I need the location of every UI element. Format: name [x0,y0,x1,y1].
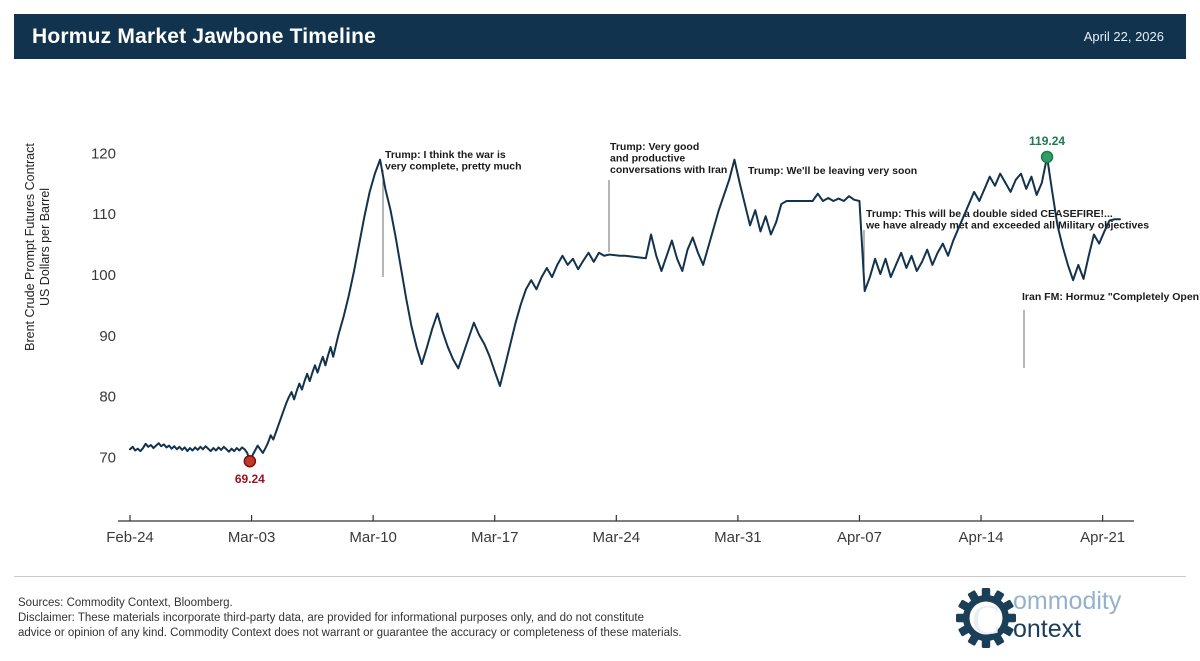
x-tick-label: Apr-21 [1080,529,1125,546]
commodity-context-logo: C ommodity ontext [955,583,1185,649]
y-tick-label: 100 [91,267,116,284]
annotation-war-complete-text: Trump: I think the war is [385,149,506,161]
y-tick-label: 70 [99,450,116,467]
x-tick-label: Mar-17 [471,529,519,546]
logo-line-2: ontext [1013,615,1121,643]
low-point-marker [244,456,255,467]
brent-price-line-chart: 708090100110120Feb-24Mar-03Mar-10Mar-17M… [0,62,1200,572]
x-tick-label: Apr-07 [837,529,882,546]
x-tick-label: Mar-24 [593,529,641,546]
chart-area: Brent Crude Prompt Futures Contract US D… [0,62,1200,572]
gear-icon: C [955,587,1017,649]
annotation-productive-conversations-text: conversations with Iran [610,164,727,176]
x-tick-label: Mar-03 [228,529,276,546]
footer-disclaimer-line2: advice or opinion of any kind. Commodity… [18,626,778,641]
annotation-double-sided-ceasefire-text: Trump: This will be a double sided CEASE… [866,208,1113,220]
footer-text: Sources: Commodity Context, Bloomberg. D… [18,596,778,641]
annotation-hormuz-completely-open-text: Iran FM: Hormuz "Completely Open" [1022,291,1200,303]
y-tick-label: 120 [91,145,116,162]
y-tick-label: 90 [99,328,116,345]
x-tick-label: Apr-14 [959,529,1004,546]
footer-disclaimer-line1: Disclaimer: These materials incorporate … [18,611,778,626]
svg-text:C: C [972,598,1000,644]
footer-divider [14,576,1186,577]
logo-wordmark: ommodity ontext [1013,587,1121,643]
logo-line-1: ommodity [1013,587,1121,615]
y-tick-label: 80 [99,389,116,406]
x-tick-label: Mar-10 [349,529,397,546]
x-tick-label: Feb-24 [106,529,154,546]
low-point-label: 69.24 [235,472,265,486]
footer-sources: Sources: Commodity Context, Bloomberg. [18,596,778,611]
high-point-label: 119.24 [1029,134,1065,148]
high-point-marker [1042,151,1053,162]
annotation-productive-conversations-text: Trump: Very good [610,141,699,153]
x-tick-label: Mar-31 [714,529,762,546]
header-date: April 22, 2026 [1084,29,1164,44]
price-line [130,157,1120,461]
header-bar: Hormuz Market Jawbone Timeline April 22,… [14,14,1186,59]
y-tick-label: 110 [92,206,116,223]
annotation-leaving-very-soon-text: Trump: We'll be leaving very soon [748,165,917,177]
annotation-productive-conversations-text: and productive [610,153,685,165]
page-title: Hormuz Market Jawbone Timeline [32,25,376,49]
chart-page: Hormuz Market Jawbone Timeline April 22,… [0,0,1200,661]
annotation-war-complete-text: very complete, pretty much [385,161,522,173]
